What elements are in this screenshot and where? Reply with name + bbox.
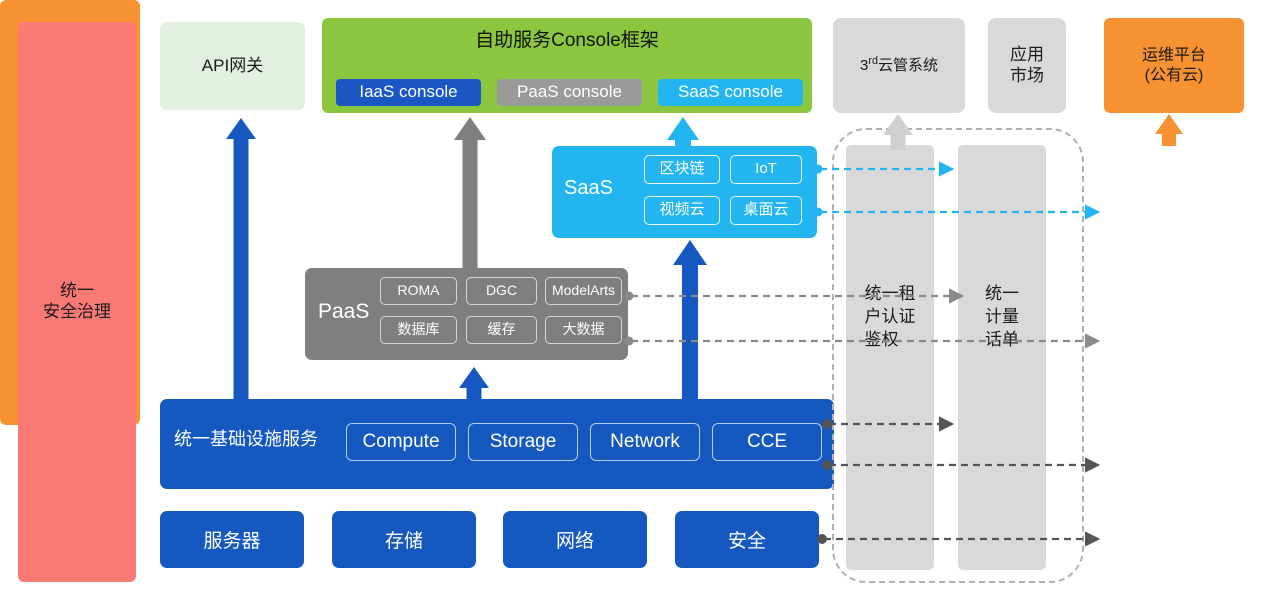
console-chip-saas-label: SaaS console bbox=[678, 82, 783, 103]
infra-chip-storage-label: Storage bbox=[490, 430, 557, 453]
arrow-infra-to-paas bbox=[459, 367, 489, 399]
paas-chip-roma[interactable]: ROMA bbox=[380, 277, 457, 305]
console-chip-iaas-label: IaaS console bbox=[359, 82, 457, 103]
console-frame-panel: 自助服务Console框架 IaaS console PaaS console … bbox=[322, 18, 812, 113]
bottom-box-server-label: 服务器 bbox=[203, 526, 260, 553]
arrow-paas-to-console bbox=[454, 117, 486, 268]
api-gateway-label: API网关 bbox=[202, 56, 263, 77]
infra-chip-network[interactable]: Network bbox=[590, 423, 700, 461]
paas-chip-cache[interactable]: 缓存 bbox=[466, 316, 537, 344]
app-market-label: 应用 市场 bbox=[1010, 45, 1044, 86]
saas-chip-iot[interactable]: IoT bbox=[730, 155, 802, 184]
infra-chip-network-label: Network bbox=[610, 430, 680, 453]
console-chip-iaas[interactable]: IaaS console bbox=[336, 79, 481, 106]
arrow-ops-column-to-platform bbox=[1155, 114, 1183, 146]
paas-chip-roma-label: ROMA bbox=[398, 282, 440, 299]
arrow-infra-to-saas bbox=[673, 240, 707, 399]
bottom-box-storage[interactable]: 存储 bbox=[332, 511, 476, 568]
paas-chip-dgc[interactable]: DGC bbox=[466, 277, 537, 305]
third-party-cloud-box: 3rd云管系统 bbox=[833, 18, 965, 113]
paas-chip-database-label: 数据库 bbox=[398, 321, 440, 338]
console-chip-paas-label: PaaS console bbox=[517, 82, 622, 103]
paas-chip-modelarts[interactable]: ModelArts bbox=[545, 277, 622, 305]
saas-chip-blockchain-label: 区块链 bbox=[659, 160, 704, 178]
paas-chip-dgc-label: DGC bbox=[486, 282, 517, 299]
paas-chip-bigdata[interactable]: 大数据 bbox=[545, 316, 622, 344]
shared-column-metering: 统一 计量 话单 bbox=[958, 145, 1046, 570]
paas-chip-bigdata-label: 大数据 bbox=[563, 321, 605, 338]
infrastructure-services-bar: 统一基础设施服务 Compute Storage Network CCE bbox=[160, 399, 834, 489]
saas-chip-desktop-cloud[interactable]: 桌面云 bbox=[730, 196, 802, 225]
saas-chip-blockchain[interactable]: 区块链 bbox=[644, 155, 720, 184]
shared-column-tenant-auth-label: 统一租 户认证 鉴权 bbox=[865, 283, 916, 352]
shared-column-tenant-auth: 统一租 户认证 鉴权 bbox=[846, 145, 934, 570]
saas-panel-label: SaaS bbox=[564, 176, 613, 200]
app-market-box: 应用 市场 bbox=[988, 18, 1066, 113]
arrow-infra-to-api-gateway bbox=[226, 118, 256, 399]
third-party-cloud-label: 3rd云管系统 bbox=[860, 55, 938, 75]
paas-panel-label: PaaS bbox=[318, 299, 369, 325]
paas-chip-database[interactable]: 数据库 bbox=[380, 316, 457, 344]
bottom-box-security-label: 安全 bbox=[728, 526, 766, 553]
paas-chip-modelarts-label: ModelArts bbox=[552, 282, 615, 299]
bottom-box-security[interactable]: 安全 bbox=[675, 511, 819, 568]
infra-chip-storage[interactable]: Storage bbox=[468, 423, 578, 461]
shared-column-metering-label: 统一 计量 话单 bbox=[985, 283, 1019, 352]
console-chip-paas[interactable]: PaaS console bbox=[497, 79, 642, 106]
saas-chip-video-cloud-label: 视频云 bbox=[659, 201, 704, 219]
bottom-box-network[interactable]: 网络 bbox=[503, 511, 647, 568]
saas-chip-desktop-cloud-label: 桌面云 bbox=[743, 201, 788, 219]
api-gateway-box: API网关 bbox=[160, 22, 305, 110]
infra-chip-compute-label: Compute bbox=[362, 430, 439, 453]
saas-chip-iot-label: IoT bbox=[755, 160, 777, 178]
paas-chip-cache-label: 缓存 bbox=[488, 321, 516, 338]
infra-chip-compute[interactable]: Compute bbox=[346, 423, 456, 461]
saas-chip-video-cloud[interactable]: 视频云 bbox=[644, 196, 720, 225]
security-governance-label: 统一 安全治理 bbox=[43, 281, 111, 322]
infra-chip-cce-label: CCE bbox=[747, 430, 787, 453]
bottom-box-network-label: 网络 bbox=[556, 526, 594, 553]
console-chip-saas[interactable]: SaaS console bbox=[658, 79, 803, 106]
infrastructure-services-label: 统一基础设施服务 bbox=[174, 429, 318, 451]
arrow-saas-to-console bbox=[667, 117, 699, 146]
security-governance-column: 统一 安全治理 bbox=[18, 22, 136, 582]
saas-panel: SaaS 区块链 IoT 视频云 桌面云 bbox=[552, 146, 817, 238]
bottom-box-storage-label: 存储 bbox=[385, 526, 423, 553]
ops-platform-label: 运维平台 (公有云) bbox=[1142, 46, 1206, 85]
architecture-diagram: 统一 安全治理 API网关 自助服务Console框架 IaaS console… bbox=[0, 0, 1265, 605]
console-frame-title: 自助服务Console框架 bbox=[322, 29, 812, 52]
paas-panel: PaaS ROMA DGC ModelArts 数据库 缓存 大数据 bbox=[305, 268, 628, 360]
ops-platform-box: 运维平台 (公有云) bbox=[1104, 18, 1244, 113]
infra-chip-cce[interactable]: CCE bbox=[712, 423, 822, 461]
bottom-box-server[interactable]: 服务器 bbox=[160, 511, 304, 568]
